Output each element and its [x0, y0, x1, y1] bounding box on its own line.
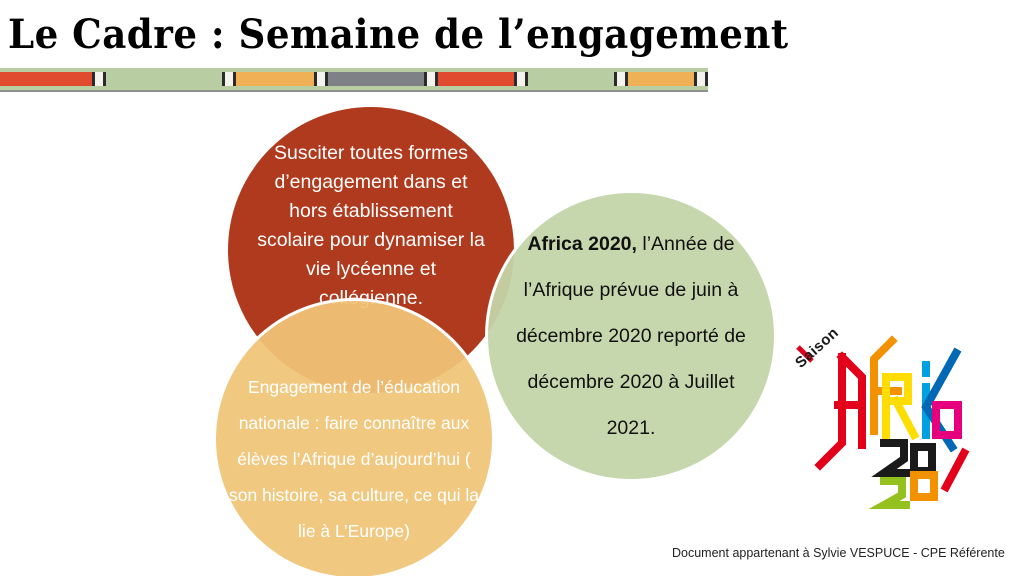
- venn-circle-engagement-education-nationale-text: Engagement de l’éducation nationale : fa…: [220, 369, 489, 549]
- venn-circle-engagement-education-nationale: Engagement de l’éducation nationale : fa…: [213, 298, 495, 576]
- venn-circle-africa-2020-lead: Africa 2020,: [527, 233, 637, 255]
- stripe-separator: [424, 72, 438, 86]
- venn-circle-africa-2020-body: l’Année de l’Afrique prévue de juin à dé…: [516, 233, 746, 439]
- stripe-separator: [92, 72, 106, 86]
- stripe-separator: [314, 72, 328, 86]
- stripe-segment: [628, 72, 694, 86]
- logo-letter-a1: [820, 357, 862, 465]
- saison-africa-2020-logo: Saison: [786, 335, 996, 510]
- venn-circle-objectif-engagement-text: Susciter toutes formes d’engagement dans…: [252, 139, 491, 313]
- stripe-segment: [328, 72, 424, 86]
- stripe-separator: [694, 72, 708, 86]
- decorative-stripe-bar: [0, 68, 708, 90]
- logo-year-1: [946, 453, 964, 487]
- logo-letter-a2: [936, 405, 958, 435]
- venn-circle-africa-2020-text: Africa 2020, l’Année de l’Afrique prévue…: [500, 221, 761, 451]
- logo-year-2: [884, 481, 906, 505]
- title-underline: [0, 90, 708, 92]
- stripe-separator: [514, 72, 528, 86]
- stripe-separator: [222, 72, 236, 86]
- logo-year-20: [884, 443, 932, 473]
- venn-circle-africa-2020: Africa 2020, l’Année de l’Afrique prévue…: [485, 190, 777, 482]
- logo-year-0: [914, 475, 934, 497]
- logo-letter-r: [886, 377, 914, 437]
- saison-africa-2020-logo-mark: [786, 335, 996, 510]
- stripe-segment: [0, 72, 92, 86]
- stripe-separator: [614, 72, 628, 86]
- stripe-segment: [438, 72, 514, 86]
- footer-ownership-note: Document appartenant à Sylvie VESPUCE - …: [672, 546, 1005, 560]
- page-title: Le Cadre : Semaine de l’engagement: [8, 12, 678, 58]
- stripe-segment: [528, 72, 614, 86]
- stripe-segment: [106, 72, 222, 86]
- slide-canvas: Le Cadre : Semaine de l’engagement Susci…: [0, 0, 1024, 576]
- stripe-segment: [236, 72, 314, 86]
